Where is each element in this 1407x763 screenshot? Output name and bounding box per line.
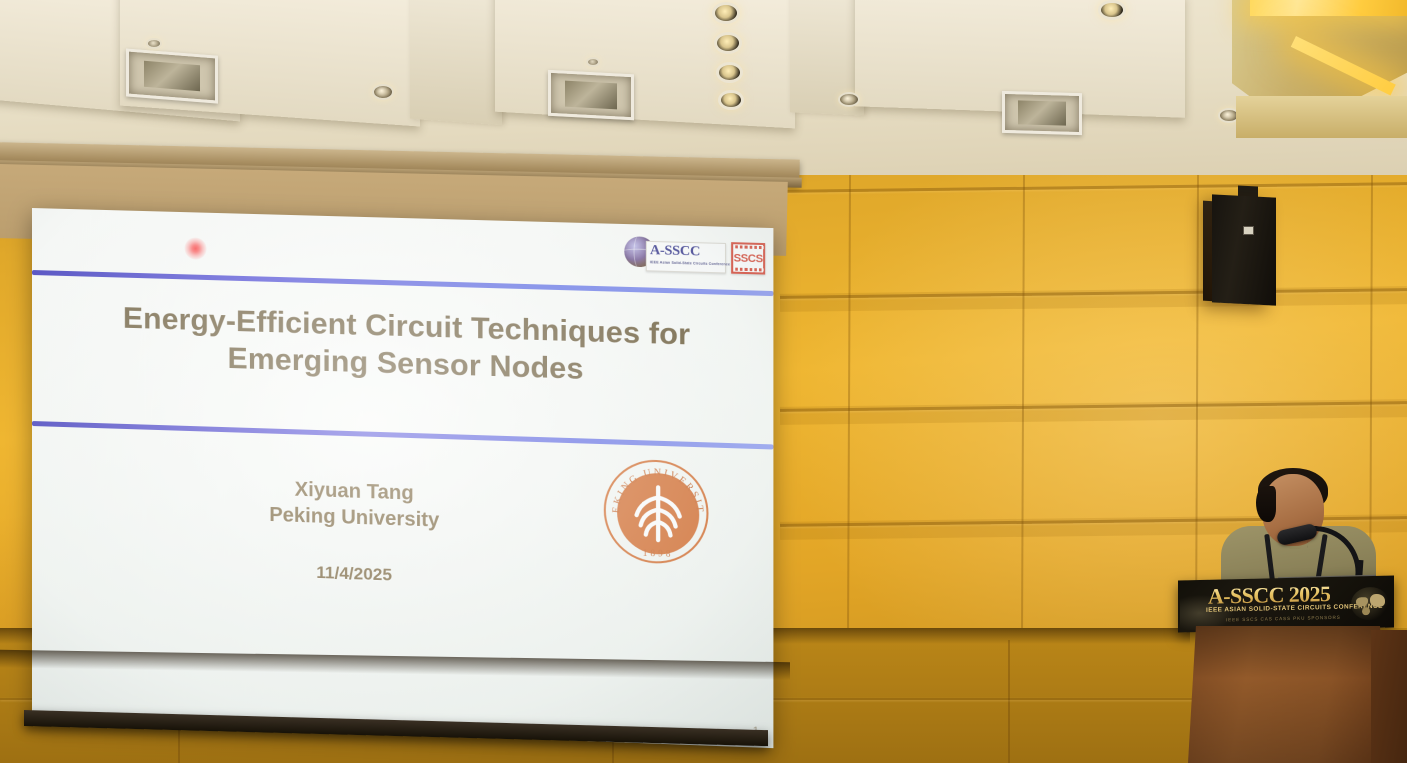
slide-date: 11/4/2025 xyxy=(182,558,527,590)
slide-divider-bottom xyxy=(32,421,773,450)
ceiling-spotlight-icon xyxy=(718,90,744,110)
hvac-diffuser-icon xyxy=(1002,91,1082,135)
svg-text:PEKING UNIVERSITY: PEKING UNIVERSITY xyxy=(606,460,706,516)
red-laser-dot-icon xyxy=(184,237,206,260)
peking-university-seal-icon: PEKING UNIVERSITY 1898 xyxy=(604,458,709,565)
wall-loudspeaker-icon xyxy=(1212,194,1276,305)
hvac-diffuser-icon xyxy=(126,48,218,103)
podium-side-panel xyxy=(1371,630,1407,763)
podium-shading xyxy=(1188,626,1388,763)
world-map-landmass xyxy=(1370,594,1385,607)
recessed-downlight-icon xyxy=(146,38,162,49)
sscs-logo-text: SSCS xyxy=(734,252,763,265)
podium-banner: A-SSCC 2025 IEEE ASIAN SOLID-STATE CIRCU… xyxy=(1178,576,1394,633)
ceiling-cove-recess xyxy=(1236,96,1407,138)
hvac-diffuser-icon xyxy=(548,70,634,121)
recessed-downlight-icon xyxy=(372,84,394,100)
cove-light-glow xyxy=(1250,0,1407,16)
sscs-logo: SSCS xyxy=(731,242,765,274)
ceiling-beam xyxy=(410,0,502,125)
wall-panel-seam xyxy=(1008,640,1010,763)
ceiling-slab xyxy=(495,0,795,128)
ceiling-spotlight-icon xyxy=(714,32,742,54)
ceiling-spotlight-icon xyxy=(1098,0,1126,20)
slide-author-block: Xiyuan Tang Peking University xyxy=(182,473,527,537)
recessed-downlight-icon xyxy=(586,57,600,67)
assc-logo: A-SSCC IEEE Asian Solid-State Circuits C… xyxy=(624,234,763,282)
world-map-landmass xyxy=(1362,607,1370,615)
assc-logo-text: A-SSCC xyxy=(650,243,700,261)
ceiling-spotlight-icon xyxy=(716,62,743,83)
speaker-hair-side xyxy=(1256,486,1276,522)
world-map-landmass xyxy=(1356,597,1368,606)
ceiling-spotlight-icon xyxy=(712,2,740,24)
conference-hall-photo: A-SSCC IEEE Asian Solid-State Circuits C… xyxy=(0,0,1407,763)
projection-screen: A-SSCC IEEE Asian Solid-State Circuits C… xyxy=(0,140,800,660)
recessed-downlight-icon xyxy=(838,92,860,107)
slide-title: Energy-Efficient Circuit Techniques for … xyxy=(72,299,742,393)
loudspeaker-brand-badge xyxy=(1243,226,1254,235)
assc-logo-subtitle: IEEE Asian Solid-State Circuits Conferen… xyxy=(650,260,730,266)
world-map-icon xyxy=(1351,587,1389,621)
assc-logo-card: A-SSCC IEEE Asian Solid-State Circuits C… xyxy=(646,241,726,274)
